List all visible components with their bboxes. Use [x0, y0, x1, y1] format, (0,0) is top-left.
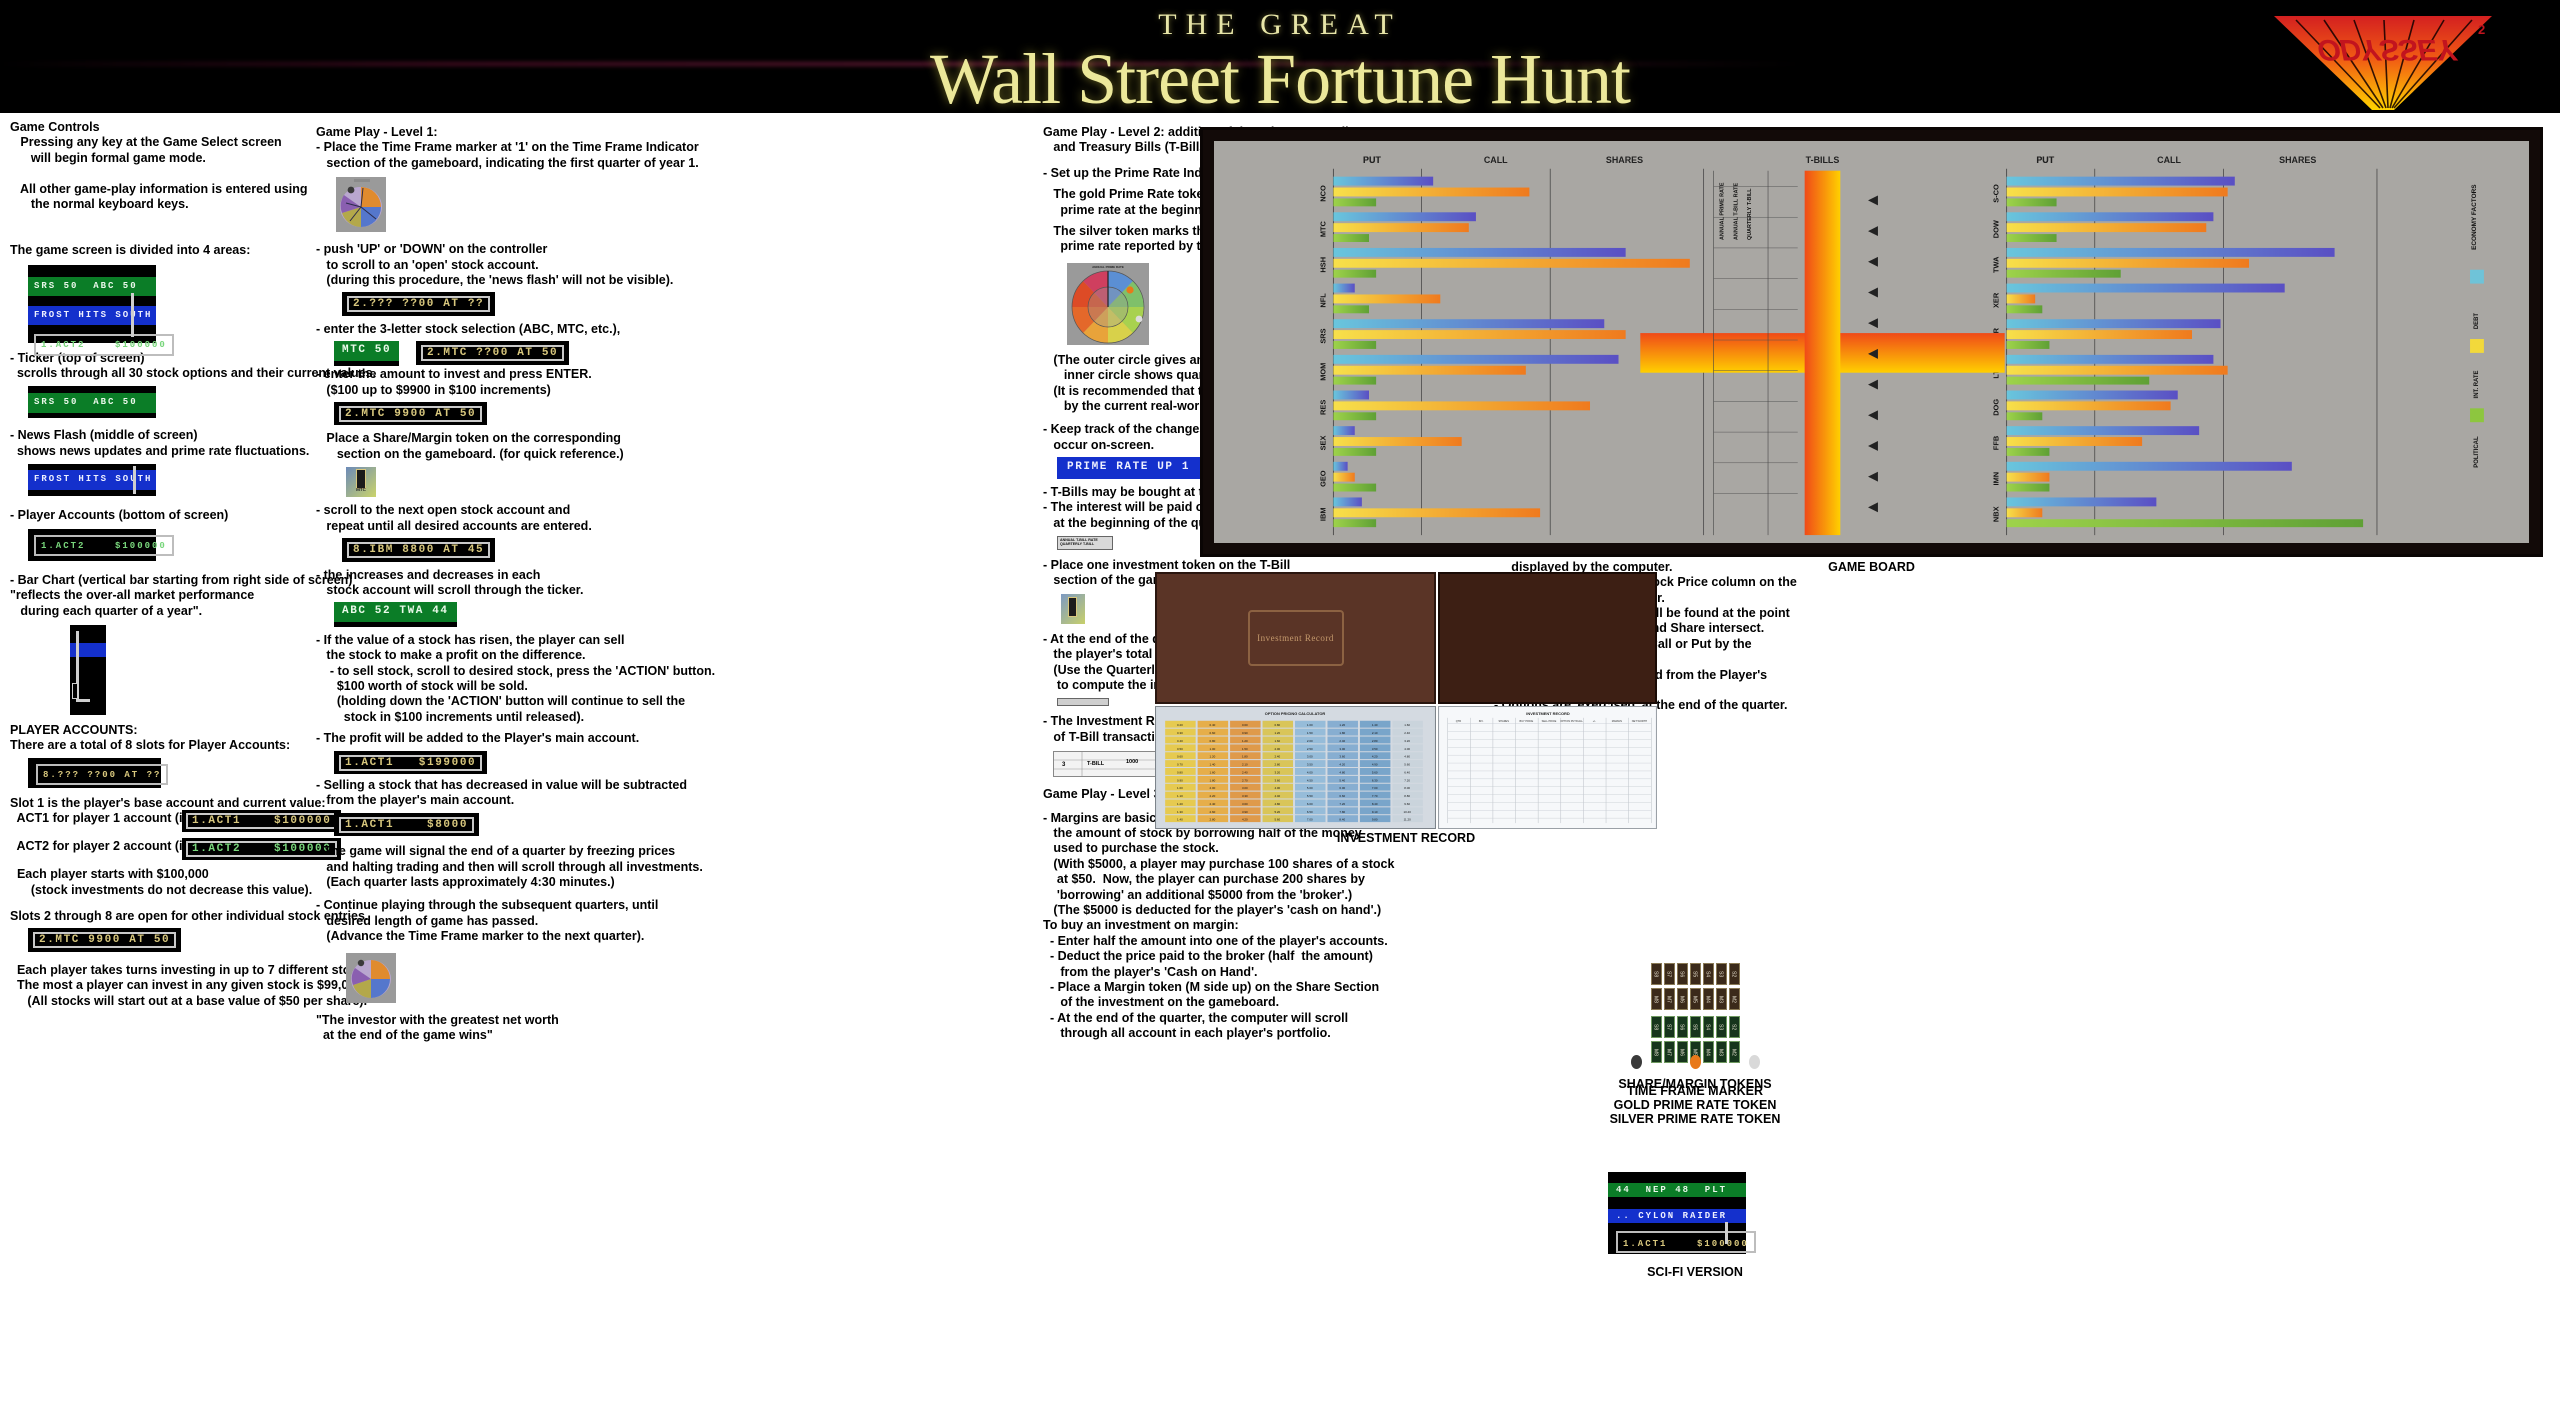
svg-text:0.80: 0.80	[1274, 723, 1280, 727]
svg-text:5.60: 5.60	[1404, 763, 1410, 767]
svg-text:DOG: DOG	[1992, 399, 2001, 416]
chip-prime-rate-up: PRIME RATE UP 1	[1057, 457, 1200, 478]
svg-text:0.80: 0.80	[1210, 739, 1216, 743]
svg-text:3.60: 3.60	[1274, 778, 1280, 782]
svg-text:7.70: 7.70	[1372, 794, 1378, 798]
c2-bullet-7: - the increases and decreases in each st…	[316, 568, 636, 599]
svg-text:4.20: 4.20	[1372, 755, 1378, 759]
c2-b7-line: stock account will scroll through the ti…	[316, 583, 636, 598]
c1-accounts-line: - Player Accounts (bottom of screen)	[10, 508, 310, 523]
screen-slot8-mock: 8.??? ??00 AT ??	[28, 758, 161, 788]
c1-intro-line: Pressing any key at the Game Select scre…	[10, 135, 310, 150]
c1-closing-line: (All stocks will start out at a base val…	[10, 994, 310, 1009]
svg-text:1.80: 1.80	[1339, 731, 1345, 735]
c3-l3-line: through all account in each player's por…	[1043, 1026, 1373, 1041]
c1-intro-line: The game screen is divided into 4 areas:	[10, 243, 310, 258]
svg-text:1.60: 1.60	[1210, 770, 1216, 774]
marker-label: TIME FRAME MARKER	[1575, 1084, 1815, 1098]
share-margin-token: S2	[1729, 963, 1740, 985]
c2-b8-line: $100 worth of stock will be sold.	[316, 679, 636, 694]
marker-labels: TIME FRAME MARKERGOLD PRIME RATE TOKENSI…	[1575, 1084, 1815, 1126]
share-margin-token: M4	[1703, 988, 1714, 1010]
svg-text:ANNUAL PRIME RATE: ANNUAL PRIME RATE	[1092, 265, 1124, 269]
svg-text:3.00: 3.00	[1339, 747, 1345, 751]
svg-text:9.60: 9.60	[1404, 802, 1410, 806]
svg-text:0.20: 0.20	[1177, 723, 1183, 727]
c2-b11-line: (Each quarter lasts approximately 4:30 m…	[316, 875, 636, 890]
svg-text:1.20: 1.20	[1177, 802, 1183, 806]
c1-intro-line: All other game-play information is enter…	[10, 182, 310, 197]
svg-text:5.00: 5.00	[1307, 786, 1313, 790]
svg-text:ODYSSEY: ODYSSEY	[2317, 33, 2459, 66]
c1-intro-line	[10, 228, 310, 243]
svg-text:GEO: GEO	[1318, 470, 1327, 487]
c2-b11-line: and halting trading and then will scroll…	[316, 860, 636, 875]
svg-text:NFL: NFL	[1318, 293, 1327, 308]
c1-barchart-line: "reflects the over-all market performanc…	[10, 588, 310, 603]
svg-text:2.40: 2.40	[1339, 739, 1345, 743]
svg-text:0.40: 0.40	[1210, 723, 1216, 727]
svg-text:1.20: 1.20	[1210, 755, 1216, 759]
svg-text:1.50: 1.50	[1242, 747, 1248, 751]
svg-text:SEX: SEX	[1318, 436, 1327, 451]
svg-text:2.00: 2.00	[1274, 747, 1280, 751]
svg-text:CALL: CALL	[2157, 155, 2181, 165]
screen-barchart-mock	[70, 625, 106, 715]
svg-text:6.40: 6.40	[1404, 770, 1410, 774]
banner-title: Wall Street Fortune Hunt	[0, 38, 2560, 113]
svg-text:6.30: 6.30	[1372, 778, 1378, 782]
markers-block: TIME FRAME MARKERGOLD PRIME RATE TOKENSI…	[1575, 1055, 1815, 1126]
svg-text:3.00: 3.00	[1242, 786, 1248, 790]
svg-text:MARGIN: MARGIN	[1612, 719, 1622, 723]
svg-text:2.00: 2.00	[1210, 786, 1216, 790]
svg-text:2.80: 2.80	[1372, 739, 1378, 743]
c1-intro-line: the normal keyboard keys.	[10, 197, 310, 212]
svg-text:2: 2	[2478, 22, 2485, 37]
c1-intro-line: will begin formal game mode.	[10, 151, 310, 166]
share-margin-token: S3	[1716, 963, 1727, 985]
share-margin-token: M8	[1651, 988, 1662, 1010]
svg-text:1.30: 1.30	[1177, 810, 1183, 814]
svg-text:OPTION PRICING CALCULATOR: OPTION PRICING CALCULATOR	[1265, 711, 1326, 716]
scifi-ticker: 44 NEP 48 PLT	[1608, 1183, 1746, 1197]
token-label: MTC	[346, 482, 376, 497]
svg-text:1.80: 1.80	[1242, 755, 1248, 759]
svg-text:INV.: INV.	[1479, 719, 1484, 723]
c1-start-line: (stock investments do not decrease this …	[10, 883, 310, 898]
svg-text:3.60: 3.60	[1339, 755, 1345, 759]
odyssey-logo-icon: ODYSSEY 2	[2268, 12, 2498, 112]
svg-text:4.00: 4.00	[1307, 770, 1313, 774]
c1-intro-line	[10, 212, 310, 227]
gameboard-inner: PUTPUTCALLSHARESNCOMTCHSHNFLSRSMOMRESSEX…	[1214, 141, 2529, 543]
share-margin-token: S6	[1677, 963, 1688, 985]
svg-text:8.00: 8.00	[1404, 786, 1410, 790]
c2-b8-line: the stock to make a profit on the differ…	[316, 648, 636, 663]
chip-c2-b4: 2.MTC 9900 AT 50	[339, 406, 482, 422]
svg-text:QUARTERLY T-BILL: QUARTERLY T-BILL	[1747, 188, 1753, 240]
record-emboss-label: Investment Record	[1248, 610, 1344, 666]
svg-text:9.10: 9.10	[1372, 810, 1378, 814]
c1-news-line: - News Flash (middle of screen)	[10, 428, 310, 443]
svg-text:9.80: 9.80	[1372, 818, 1378, 822]
svg-text:5.60: 5.60	[1372, 770, 1378, 774]
c3-l3-line: from the player's 'Cash on Hand'.	[1043, 965, 1373, 980]
c1-closing-line: The most a player can invest in any give…	[10, 978, 310, 993]
c2-b8-line: - If the value of a stock has risen, the…	[316, 633, 636, 648]
chip-c2-b7: ABC 52 TWA 44	[334, 602, 457, 626]
svg-text:2.80: 2.80	[1274, 763, 1280, 767]
svg-text:6.60: 6.60	[1339, 794, 1345, 798]
share-margin-token: S7	[1664, 1016, 1675, 1038]
c1-slot1-line: Slot 1 is the player's base account and …	[10, 796, 310, 811]
c1-closing-lines: Each player takes turns investing in up …	[10, 963, 310, 1009]
c2-closing-line: "The investor with the greatest net wort…	[316, 1013, 636, 1028]
chip-c2-b3-dark: 2.MTC ??00 AT 50	[421, 345, 564, 361]
c2-bullet-3: - enter the 3-letter stock selection (AB…	[316, 322, 636, 337]
svg-text:4.20: 4.20	[1339, 763, 1345, 767]
c2-bullet-6: - scroll to the next open stock account …	[316, 503, 636, 534]
c2-b9-line: - The profit will be added to the Player…	[316, 731, 636, 746]
marker-label: SILVER PRIME RATE TOKEN	[1575, 1112, 1815, 1126]
quarterly-rate-strip-image	[1057, 698, 1109, 706]
svg-text:10.40: 10.40	[1403, 810, 1411, 814]
c1-closing-line: Each player takes turns investing in up …	[10, 963, 310, 978]
c2-b2-line: (during this procedure, the 'news flash'…	[316, 273, 636, 288]
c2-b4-line: - enter the amount to invest and press E…	[316, 367, 636, 382]
c2-bullet-9: - The profit will be added to the Player…	[316, 731, 636, 746]
svg-text:4.20: 4.20	[1242, 818, 1248, 822]
svg-text:11.20: 11.20	[1404, 818, 1411, 822]
c3-l3-line: (With $5000, a player may purchase 100 s…	[1043, 857, 1373, 872]
c1-barchart-line: - Bar Chart (vertical bar starting from …	[10, 573, 310, 588]
share-margin-token: S4	[1703, 1016, 1714, 1038]
chip-c2-b6: 8.IBM 8800 AT 45	[347, 542, 490, 558]
svg-text:1.20: 1.20	[1274, 731, 1280, 735]
svg-text:5.50: 5.50	[1307, 794, 1313, 798]
marker-dots-row	[1575, 1055, 1815, 1074]
mock-ticker-only: SRS 50 ABC 50	[28, 393, 156, 412]
c2-b2-line: to scroll to an 'open' stock account.	[316, 258, 636, 273]
svg-text:SELL PRICE: SELL PRICE	[1542, 719, 1557, 723]
c2-b10-line: from the player's main account.	[316, 793, 636, 808]
svg-text:2.40: 2.40	[1404, 731, 1410, 735]
c1-start-line: Each player starts with $100,000	[10, 867, 310, 882]
share-margin-token: S4	[1703, 963, 1714, 985]
svg-text:3.30: 3.30	[1242, 794, 1248, 798]
prime-rate-dial-image: ANNUAL PRIME RATE	[1067, 263, 1149, 345]
banner-pretitle: THE GREAT	[0, 8, 2560, 42]
svg-text:4.40: 4.40	[1274, 794, 1280, 798]
share-margin-token: S3	[1716, 1016, 1727, 1038]
c2-b1-line: section of the gameboard, indicating the…	[316, 156, 636, 171]
share-margin-token: M5	[1690, 988, 1701, 1010]
svg-text:4.50: 4.50	[1307, 778, 1313, 782]
svg-text:1.20: 1.20	[1339, 723, 1345, 727]
share-margin-token: M2	[1729, 988, 1740, 1010]
svg-text:6.00: 6.00	[1307, 802, 1313, 806]
svg-text:NBX: NBX	[1992, 506, 2001, 522]
svg-text:2.80: 2.80	[1210, 818, 1216, 822]
c2-b8-line: - to sell stock, scroll to desired stock…	[316, 664, 636, 679]
svg-text:1.60: 1.60	[1274, 739, 1280, 743]
marker-token-dot	[1690, 1055, 1701, 1069]
svg-text:NET WORTH: NET WORTH	[1632, 719, 1647, 723]
svg-text:3.20: 3.20	[1404, 739, 1410, 743]
share-margin-token: S5	[1690, 1016, 1701, 1038]
share-margin-token: S8	[1651, 1016, 1662, 1038]
scifi-cursor	[1725, 1222, 1728, 1244]
chip-act2: 1.ACT2 $100000	[186, 841, 337, 857]
svg-text:3: 3	[1062, 762, 1066, 768]
chip-c2-b3-green: MTC 50	[334, 341, 399, 365]
screen-full-mock: SRS 50 ABC 50 FROST HITS SOUTH 1.ACT2 $1…	[28, 265, 156, 343]
mock-account-only: 1.ACT2 $100000	[41, 541, 167, 551]
mock-account-line: 1.ACT2 $100000	[41, 340, 167, 350]
svg-text:0.30: 0.30	[1177, 731, 1183, 735]
mock-news-line: FROST HITS SOUTH	[28, 306, 156, 325]
c1-player-accounts-sub: There are a total of 8 slots for Player …	[10, 738, 310, 753]
svg-text:1.40: 1.40	[1372, 723, 1378, 727]
c1-barchart-line: during each quarter of a year".	[10, 604, 310, 619]
svg-text:3.00: 3.00	[1307, 755, 1313, 759]
c2-b5-line: section on the gameboard. (for quick ref…	[316, 447, 636, 462]
svg-text:2.40: 2.40	[1274, 755, 1280, 759]
svg-text:1.00: 1.00	[1210, 747, 1216, 751]
c2-b7-line: - the increases and decreases in each	[316, 568, 636, 583]
svg-text:2.10: 2.10	[1242, 763, 1248, 767]
svg-text:4.00: 4.00	[1274, 786, 1280, 790]
c1-intro-line	[10, 166, 310, 181]
marker-label: GOLD PRIME RATE TOKEN	[1575, 1098, 1815, 1112]
svg-text:T-BILLS: T-BILLS	[1806, 155, 1840, 165]
svg-text:T-BILL: T-BILL	[1087, 761, 1105, 767]
c2-bullet-4: - enter the amount to invest and press E…	[316, 367, 636, 398]
svg-text:7.00: 7.00	[1372, 786, 1378, 790]
share-margin-token: S5	[1690, 963, 1701, 985]
svg-text:PUT: PUT	[2036, 155, 2054, 165]
c2-b12-line: (Advance the Time Frame marker to the ne…	[316, 929, 636, 944]
screen-news-mock: FROST HITS SOUTH	[28, 464, 156, 496]
svg-text:5.20: 5.20	[1274, 810, 1280, 814]
time-frame-dial-image	[336, 177, 386, 232]
svg-text:XER: XER	[1992, 292, 2001, 308]
svg-text:5.60: 5.60	[1274, 818, 1280, 822]
scifi-screen-mock: 44 NEP 48 PLT .. CYLON RAIDER 1.ACT1 $10…	[1608, 1172, 1746, 1254]
svg-text:ECONOMY FACTORS: ECONOMY FACTORS	[2471, 184, 2478, 250]
svg-text:POLITICAL: POLITICAL	[2474, 436, 2480, 468]
svg-text:INT. RATE: INT. RATE	[2474, 370, 2480, 398]
chip-slot2: 2.MTC 9900 AT 50	[33, 932, 176, 948]
svg-text:3.90: 3.90	[1242, 810, 1248, 814]
marker-token-dot	[1749, 1055, 1760, 1069]
share-margin-token: S2	[1729, 1016, 1740, 1038]
svg-text:8.40: 8.40	[1339, 818, 1345, 822]
c2-closing-line: at the end of the game wins"	[316, 1028, 636, 1043]
c2-bullet-10: - Selling a stock that has decreased in …	[316, 778, 636, 809]
svg-text:4.80: 4.80	[1274, 802, 1280, 806]
share-margin-token: S8	[1651, 963, 1662, 985]
c1-barchart-label: - Bar Chart (vertical bar starting from …	[10, 573, 310, 619]
mock-cursor	[131, 293, 134, 337]
svg-text:MOM: MOM	[1318, 363, 1327, 381]
c3-l3-line: - At the end of the quarter, the compute…	[1043, 1011, 1373, 1026]
svg-text:0.80: 0.80	[1177, 770, 1183, 774]
svg-text:8.80: 8.80	[1404, 794, 1410, 798]
svg-text:0.90: 0.90	[1242, 731, 1248, 735]
c2-b6-line: repeat until all desired accounts are en…	[316, 519, 636, 534]
c2-bullet-8: - If the value of a stock has risen, the…	[316, 633, 636, 725]
svg-text:QTR: QTR	[1456, 719, 1462, 723]
svg-text:DOW: DOW	[1992, 220, 2001, 238]
svg-text:0.70: 0.70	[1177, 763, 1183, 767]
c3-l3-line: - Place a Margin token (M side up) on th…	[1043, 980, 1373, 995]
screen-ticker-mock: SRS 50 ABC 50	[28, 386, 156, 418]
c1-player-accounts-heading: PLAYER ACCOUNTS:	[10, 723, 310, 738]
svg-text:1.40: 1.40	[1177, 818, 1183, 822]
investment-token-image	[1061, 594, 1085, 624]
svg-text:2.10: 2.10	[1372, 731, 1378, 735]
svg-text:SHARES: SHARES	[1606, 155, 1643, 165]
svg-text:1.60: 1.60	[1404, 723, 1410, 727]
option-pricing-calculator-image: OPTION PRICING CALCULATOR0.200.300.400.5…	[1155, 706, 1436, 829]
svg-text:TWA: TWA	[1992, 256, 2001, 273]
c1-accounts-label: - Player Accounts (bottom of screen)	[10, 508, 310, 523]
svg-text:+/-: +/-	[1593, 719, 1596, 723]
c3-l3-line: of the investment on the gameboard.	[1043, 995, 1373, 1010]
svg-text:2.00: 2.00	[1307, 739, 1313, 743]
svg-text:1.40: 1.40	[1210, 763, 1216, 767]
c1-news-label: - News Flash (middle of screen) shows ne…	[10, 428, 310, 459]
svg-text:4.80: 4.80	[1404, 755, 1410, 759]
svg-text:7.00: 7.00	[1307, 818, 1313, 822]
svg-text:CALL: CALL	[1484, 155, 1508, 165]
c2-b12-line: desired length of game has passed.	[316, 914, 636, 929]
share-margin-token: M3	[1716, 988, 1727, 1010]
gameboard-chart: PUTPUTCALLSHARESNCOMTCHSHNFLSRSMOMRESSEX…	[1214, 141, 2529, 543]
chip-c2-b2: 2.??? ??00 AT ??	[347, 296, 490, 312]
investment-record-caption: INVESTMENT RECORD	[1155, 831, 1657, 845]
column-level-1: Game Play - Level 1: - Place the Time Fr…	[316, 125, 636, 1043]
c1-ticker-line: scrolls through all 30 stock options and…	[10, 366, 310, 381]
c2-bullet-5: Place a Share/Margin token on the corres…	[316, 431, 636, 462]
mock-ticker-line: SRS 50 ABC 50	[28, 277, 156, 296]
investment-record-sheet-image: INVESTMENT RECORDQTRINV.SHARESBUY PRICES…	[1438, 706, 1657, 829]
c2-b8-line: stock in $100 increments until released)…	[316, 710, 636, 725]
svg-text:5.40: 5.40	[1339, 778, 1345, 782]
gameboard-image: PUTPUTCALLSHARESNCOMTCHSHNFLSRSMOMRESSEX…	[1200, 127, 2543, 557]
c2-b2-line: - push 'UP' or 'DOWN' on the controller	[316, 242, 636, 257]
c2-b6-line: - scroll to the next open stock account …	[316, 503, 636, 518]
c2-heading: Game Play - Level 1:	[316, 125, 636, 140]
svg-text:2.40: 2.40	[1242, 770, 1248, 774]
c2-b5-line: Place a Share/Margin token on the corres…	[316, 431, 636, 446]
svg-text:4.90: 4.90	[1372, 763, 1378, 767]
mock-slot8-line: 8.??? ??00 AT ??	[43, 770, 161, 780]
c2-bullet-11: - The game will signal the end of a quar…	[316, 844, 636, 890]
svg-text:1.00: 1.00	[1177, 786, 1183, 790]
svg-text:3.20: 3.20	[1274, 770, 1280, 774]
svg-text:3.50: 3.50	[1307, 763, 1313, 767]
chip-act1: 1.ACT1 $100000	[186, 813, 337, 829]
svg-text:0.40: 0.40	[1177, 739, 1183, 743]
svg-text:FFB: FFB	[1992, 435, 2001, 450]
svg-text:PUT: PUT	[1363, 155, 1381, 165]
mock-news-only: FROST HITS SOUTH	[28, 470, 156, 489]
svg-text:7.20: 7.20	[1339, 802, 1345, 806]
investment-record-cover-image: Investment Record	[1155, 572, 1436, 704]
investment-record-back-image	[1438, 572, 1657, 704]
svg-text:3.50: 3.50	[1372, 747, 1378, 751]
svg-text:0.60: 0.60	[1242, 723, 1248, 727]
share-margin-token: M7	[1664, 988, 1675, 1010]
c3-l3-line: To buy an investment on margin:	[1043, 918, 1373, 933]
c3-l3-line: 'borrowing' an additional $5000 from the…	[1043, 888, 1373, 903]
svg-text:1.80: 1.80	[1210, 778, 1216, 782]
svg-text:3.60: 3.60	[1242, 802, 1248, 806]
column-game-controls: Game Controls Pressing any key at the Ga…	[10, 120, 310, 1009]
svg-text:MTC: MTC	[1318, 220, 1327, 237]
c2-b11-line: - The game will signal the end of a quar…	[316, 844, 636, 859]
c3-l3-line: - Enter half the amount into one of the …	[1043, 934, 1373, 949]
svg-text:OPTION PUT/CALL: OPTION PUT/CALL	[1560, 719, 1583, 723]
c2-b10-line: - Selling a stock that has decreased in …	[316, 778, 636, 793]
scifi-account: 1.ACT1 $100000	[1623, 1239, 1749, 1249]
svg-text:4.00: 4.00	[1404, 747, 1410, 751]
c2-closing-text: "The investor with the greatest net wort…	[316, 1013, 636, 1044]
svg-text:SRS: SRS	[1318, 328, 1327, 343]
svg-text:HSH: HSH	[1318, 257, 1327, 273]
c3-l3-line: (The $5000 is deducted for the player's …	[1043, 903, 1373, 918]
svg-text:INVESTMENT RECORD: INVESTMENT RECORD	[1526, 711, 1570, 716]
c2-bullet-2: - push 'UP' or 'DOWN' on the controller …	[316, 242, 636, 288]
svg-text:NCO: NCO	[1318, 185, 1327, 202]
scifi-news: .. CYLON RAIDER	[1608, 1209, 1746, 1223]
svg-text:IMN: IMN	[1992, 472, 2001, 486]
c1-heading: Game Controls	[10, 120, 310, 135]
svg-text:1000: 1000	[1126, 759, 1138, 765]
svg-text:7.20: 7.20	[1404, 778, 1410, 782]
svg-text:ANNUAL PRIME RATE: ANNUAL PRIME RATE	[1719, 182, 1725, 240]
chip-c2-b10: 1.ACT1 $8000	[339, 817, 474, 833]
svg-text:7.80: 7.80	[1339, 810, 1345, 814]
c2-bullet-1: - Place the Time Frame marker at '1' on …	[316, 140, 636, 171]
share-margin-token: S7	[1664, 963, 1675, 985]
marker-token-dot	[1631, 1055, 1642, 1069]
svg-text:0.60: 0.60	[1177, 755, 1183, 759]
c1-start-lines: Each player starts with $100,000 (stock …	[10, 867, 310, 898]
c3-l3-line: at $50. Now, the player can purchase 200…	[1043, 872, 1373, 887]
svg-text:IBM: IBM	[1318, 507, 1327, 521]
svg-text:6.00: 6.00	[1339, 786, 1345, 790]
c2-b12-line: - Continue playing through the subsequen…	[316, 898, 636, 913]
svg-text:RES: RES	[1318, 400, 1327, 415]
mock-cursor-2	[133, 466, 136, 494]
c2-b4-line: ($100 up to $9900 in $100 increments)	[316, 383, 636, 398]
c2-b1-line: - Place the Time Frame marker at '1' on …	[316, 140, 636, 155]
c2-b8-line: (holding down the 'ACTION' button will c…	[316, 694, 636, 709]
svg-text:0.50: 0.50	[1177, 747, 1183, 751]
svg-text:BUY PRICE: BUY PRICE	[1520, 719, 1534, 723]
svg-text:ANNUAL T-BILL RATE: ANNUAL T-BILL RATE	[1733, 183, 1739, 240]
c1-slots-line: Slots 2 through 8 are open for other ind…	[10, 909, 310, 924]
c3-level3-text: - Margins are basically the practice of …	[1043, 811, 1373, 1042]
svg-text:2.50: 2.50	[1307, 747, 1313, 751]
svg-text:2.70: 2.70	[1242, 778, 1248, 782]
c3-l3-line: - Deduct the price paid to the broker (h…	[1043, 949, 1373, 964]
c1-intro-text: Pressing any key at the Game Select scre…	[10, 135, 310, 258]
